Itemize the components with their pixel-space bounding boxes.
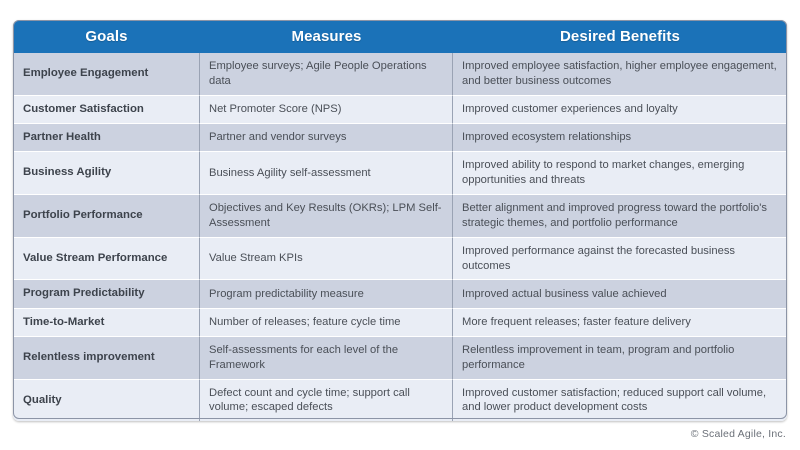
cell-goal: Quality [13,379,200,422]
cell-measure: Defect count and cycle time; support cal… [200,379,453,422]
table-row: QualityDefect count and cycle time; supp… [13,379,787,422]
table-row: Time-to-MarketNumber of releases; featur… [13,308,787,336]
table-row: Program PredictabilityProgram predictabi… [13,279,787,307]
cell-goal: Time-to-Market [13,308,200,336]
cell-desired-benefit: Improved customer experiences and loyalt… [453,95,787,123]
cell-measure: Partner and vendor surveys [200,123,453,151]
cell-desired-benefit: Improved customer satisfaction; reduced … [453,379,787,422]
table-row: Employee EngagementEmployee surveys; Agi… [13,53,787,95]
cell-desired-benefit: Improved actual business value achieved [453,279,787,307]
cell-goal: Relentless improvement [13,336,200,379]
cell-goal: Value Stream Performance [13,237,200,280]
copyright-credit: © Scaled Agile, Inc. [691,428,786,440]
column-header-desired-benefits: Desired Benefits [453,20,787,53]
cell-measure: Program predictability measure [200,279,453,307]
cell-goal: Employee Engagement [13,53,200,95]
cell-measure: Business Agility self-assessment [200,151,453,194]
cell-measure: Net Promoter Score (NPS) [200,95,453,123]
table-row: Value Stream PerformanceValue Stream KPI… [13,237,787,280]
table-row: Customer SatisfactionNet Promoter Score … [13,95,787,123]
cell-goal: Program Predictability [13,279,200,307]
cell-desired-benefit: Improved employee satisfaction, higher e… [453,53,787,95]
table-row: Relentless improvementSelf-assessments f… [13,336,787,379]
cell-measure: Objectives and Key Results (OKRs); LPM S… [200,194,453,237]
cell-desired-benefit: Improved ecosystem relationships [453,123,787,151]
column-header-goals: Goals [13,20,200,53]
cell-desired-benefit: More frequent releases; faster feature d… [453,308,787,336]
cell-measure: Value Stream KPIs [200,237,453,280]
table-row: Partner HealthPartner and vendor surveys… [13,123,787,151]
goals-measures-benefits-table-wrapper: Goals Measures Desired Benefits Employee… [13,20,787,421]
table-body: Employee EngagementEmployee surveys; Agi… [13,53,787,421]
table-header: Goals Measures Desired Benefits [13,20,787,53]
table-row: Portfolio PerformanceObjectives and Key … [13,194,787,237]
cell-goal: Customer Satisfaction [13,95,200,123]
cell-desired-benefit: Relentless improvement in team, program … [453,336,787,379]
cell-measure: Self-assessments for each level of the F… [200,336,453,379]
table-row: Business AgilityBusiness Agility self-as… [13,151,787,194]
cell-desired-benefit: Improved ability to respond to market ch… [453,151,787,194]
cell-goal: Business Agility [13,151,200,194]
cell-goal: Portfolio Performance [13,194,200,237]
cell-desired-benefit: Improved performance against the forecas… [453,237,787,280]
cell-goal: Partner Health [13,123,200,151]
goals-measures-benefits-table: Goals Measures Desired Benefits Employee… [13,20,787,421]
cell-measure: Employee surveys; Agile People Operation… [200,53,453,95]
cell-measure: Number of releases; feature cycle time [200,308,453,336]
column-header-measures: Measures [200,20,453,53]
table-header-row: Goals Measures Desired Benefits [13,20,787,53]
cell-desired-benefit: Better alignment and improved progress t… [453,194,787,237]
